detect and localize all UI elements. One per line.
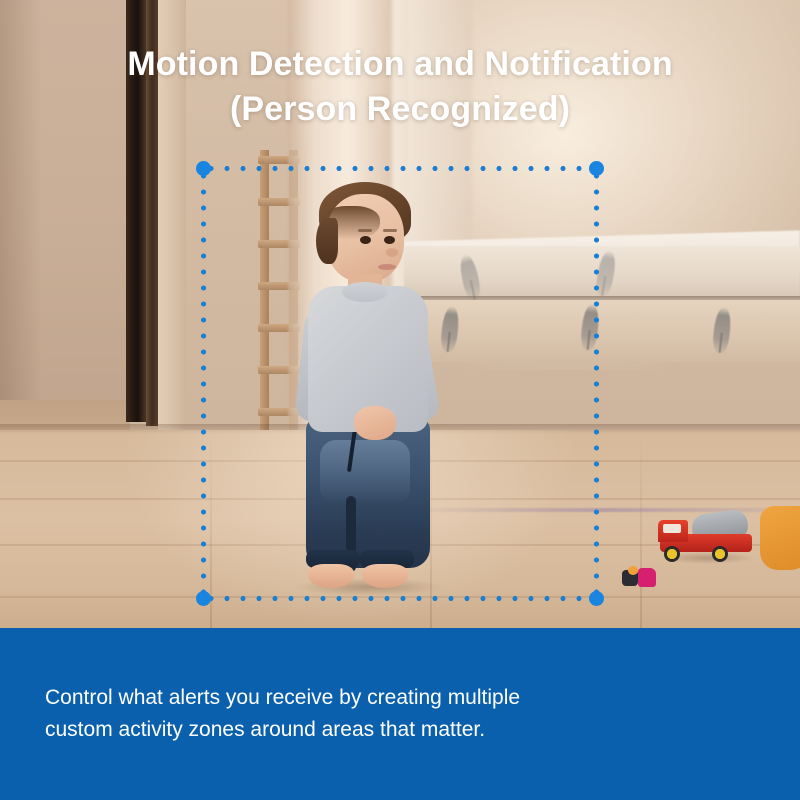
- floor-seam: [640, 430, 642, 628]
- activity-detection-zone[interactable]: [203, 168, 596, 598]
- zone-handle-bottom-left[interactable]: [196, 591, 211, 606]
- zone-handle-top-left[interactable]: [196, 161, 211, 176]
- feature-banner: Control what alerts you receive by creat…: [0, 628, 800, 800]
- banner-description: Control what alerts you receive by creat…: [45, 682, 590, 746]
- truck-wheel: [712, 546, 728, 562]
- zone-handle-bottom-right[interactable]: [589, 591, 604, 606]
- zone-edge-left[interactable]: [201, 168, 206, 598]
- toy-figure: [622, 566, 656, 588]
- orange-cushion: [760, 506, 800, 570]
- page-title: Motion Detection and Notification (Perso…: [0, 42, 800, 132]
- zone-edge-top[interactable]: [203, 166, 596, 171]
- page-root: Motion Detection and Notification (Perso…: [0, 0, 800, 800]
- feather-motif: [712, 306, 733, 353]
- toy-figure-pink-piece: [638, 568, 656, 587]
- toy-fire-truck: [658, 512, 756, 560]
- zone-edge-bottom[interactable]: [203, 596, 596, 601]
- camera-scene: Motion Detection and Notification (Perso…: [0, 0, 800, 628]
- zone-handle-top-right[interactable]: [589, 161, 604, 176]
- zone-edge-right[interactable]: [594, 168, 599, 598]
- toy-figure-head: [628, 566, 638, 575]
- page-title-line-2: (Person Recognized): [0, 87, 800, 132]
- truck-window: [663, 524, 681, 533]
- truck-wheel: [664, 546, 680, 562]
- page-title-line-1: Motion Detection and Notification: [0, 42, 800, 87]
